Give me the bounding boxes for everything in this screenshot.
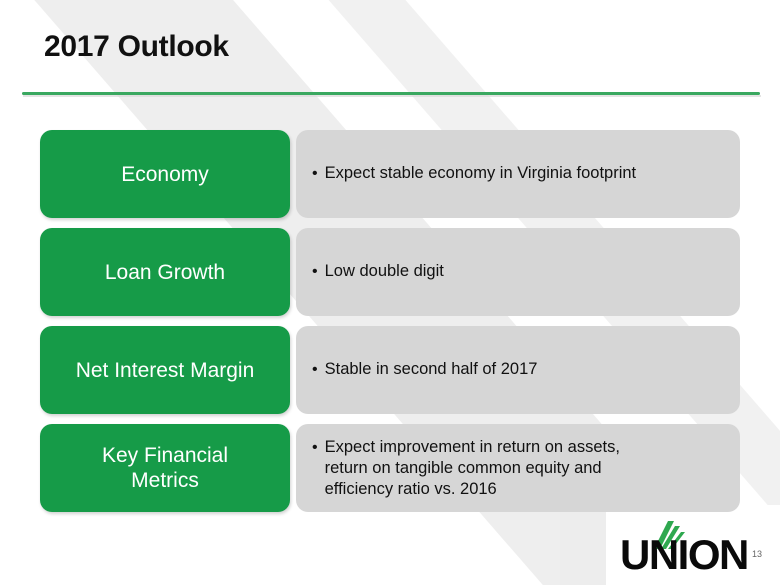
outlook-row: Loan Growth • Low double digit: [40, 228, 740, 316]
union-wordmark-text: UNION: [620, 531, 748, 575]
category-content-box-key-financial-metrics: • Expect improvement in return on assets…: [296, 424, 740, 512]
title-rule-shadow: [23, 95, 761, 97]
union-logo-svg: UNION: [620, 519, 760, 575]
bullet-marker-icon: •: [312, 163, 318, 185]
category-label-box-key-financial-metrics[interactable]: Key Financial Metrics: [40, 424, 290, 512]
bullet-marker-icon: •: [312, 437, 318, 459]
category-label-text: Net Interest Margin: [76, 358, 255, 383]
outlook-row: Net Interest Margin • Stable in second h…: [40, 326, 740, 414]
category-label-box-economy[interactable]: Economy: [40, 130, 290, 218]
page-number: 13: [752, 549, 762, 559]
category-label-text: Key Financial Metrics: [102, 443, 228, 493]
bullet-item: • Low double digit: [312, 261, 444, 283]
category-label-box-loan-growth[interactable]: Loan Growth: [40, 228, 290, 316]
category-label-text: Economy: [121, 162, 209, 187]
category-content-box-loan-growth: • Low double digit: [296, 228, 740, 316]
category-label-text: Loan Growth: [105, 260, 225, 285]
slide-canvas: 2017 Outlook Economy • Expect stable eco…: [0, 0, 780, 585]
bullet-text: Expect improvement in return on assets, …: [325, 437, 620, 500]
category-content-box-net-interest-margin: • Stable in second half of 2017: [296, 326, 740, 414]
bullet-text: Low double digit: [325, 261, 444, 282]
outlook-row: Economy • Expect stable economy in Virgi…: [40, 130, 740, 218]
outlook-row: Key Financial Metrics • Expect improveme…: [40, 424, 740, 512]
bullet-item: • Stable in second half of 2017: [312, 359, 537, 381]
bullet-item: • Expect improvement in return on assets…: [312, 437, 620, 500]
page-title: 2017 Outlook: [44, 30, 229, 64]
bullet-item: • Expect stable economy in Virginia foot…: [312, 163, 636, 185]
bullet-marker-icon: •: [312, 359, 318, 381]
footer-gray-block: [560, 505, 606, 585]
bullet-text: Expect stable economy in Virginia footpr…: [325, 163, 637, 184]
bullet-marker-icon: •: [312, 261, 318, 283]
union-logo: UNION: [620, 519, 760, 575]
category-content-box-economy: • Expect stable economy in Virginia foot…: [296, 130, 740, 218]
title-underline-rule: [22, 92, 760, 95]
category-label-box-net-interest-margin[interactable]: Net Interest Margin: [40, 326, 290, 414]
bullet-text: Stable in second half of 2017: [325, 359, 538, 380]
